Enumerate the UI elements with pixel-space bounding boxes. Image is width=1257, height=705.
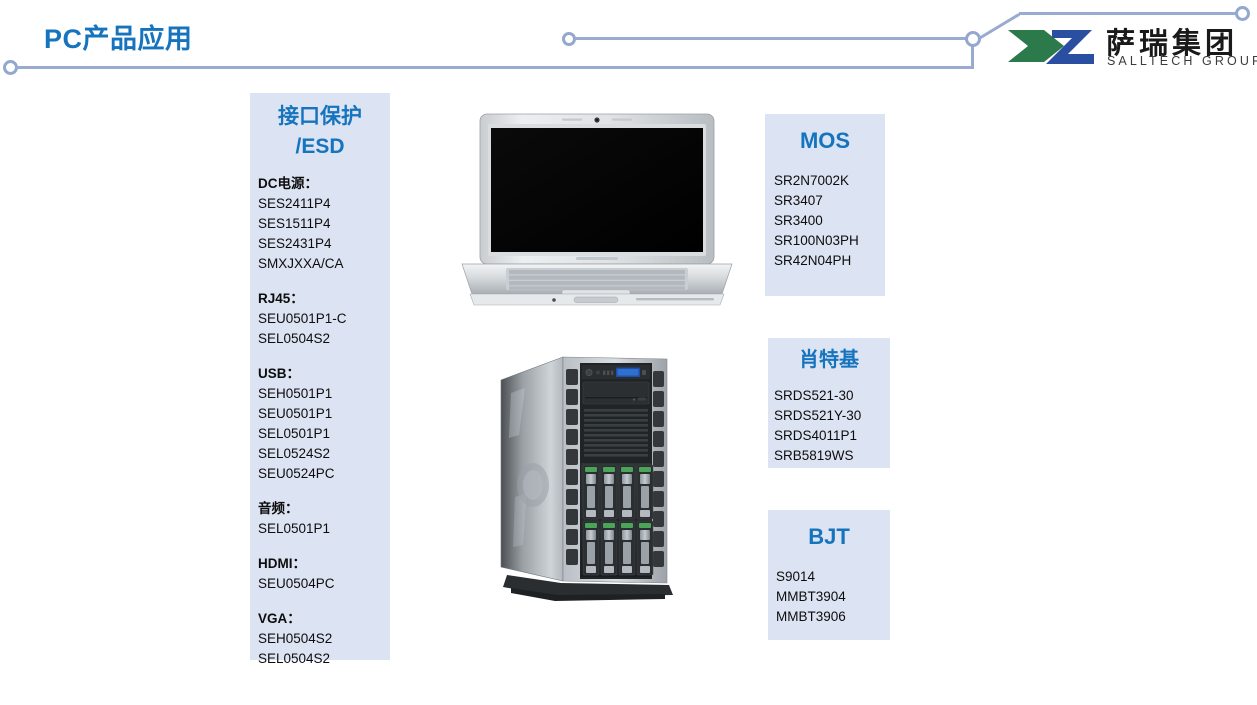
part-number: SR3407 <box>774 191 885 211</box>
part-number: S9014 <box>776 567 890 587</box>
part-number: MMBT3906 <box>776 607 890 627</box>
part-group-usb: USB： SEH0501P1 SEU0501P1 SEL0501P1 SEL05… <box>258 364 390 484</box>
deco-line-lower <box>16 66 974 69</box>
info-box-esd: 接口保护 /ESD DC电源： SES2411P4 SES1511P4 SES2… <box>250 93 390 660</box>
part-number: MMBT3904 <box>776 587 890 607</box>
info-box-schottky-title: 肖特基 <box>768 338 890 375</box>
part-number: SRB5819WS <box>774 446 890 466</box>
part-group-label: DC电源： <box>258 174 390 194</box>
part-group-label: 音频： <box>258 499 390 519</box>
part-group-rj45: RJ45： SEU0501P1-C SEL0504S2 <box>258 289 390 349</box>
page-title: PC产品应用 <box>44 17 193 56</box>
info-box-schottky: 肖特基 SRDS521-30 SRDS521Y-30 SRDS4011P1 SR… <box>768 338 890 468</box>
part-number: SEU0524PC <box>258 464 390 484</box>
part-number: SR3400 <box>774 211 885 231</box>
server-control-panel <box>582 365 650 379</box>
info-box-esd-title-line2: /ESD <box>250 132 390 162</box>
part-number: SEL0524S2 <box>258 444 390 464</box>
info-box-esd-title: 接口保护 /ESD <box>250 93 390 162</box>
part-number: SEL0504S2 <box>258 329 390 349</box>
info-box-schottky-body: SRDS521-30 SRDS521Y-30 SRDS4011P1 SRB581… <box>768 375 890 466</box>
info-box-mos-title: MOS <box>765 114 885 155</box>
part-group-hdmi: HDMI： SEU0504PC <box>258 554 390 594</box>
part-group-label: VGA： <box>258 609 390 629</box>
part-group-dc-power: DC电源： SES2411P4 SES1511P4 SES2431P4 SMXJ… <box>258 174 390 274</box>
part-number: SEH0501P1 <box>258 384 390 404</box>
spacer <box>258 484 390 499</box>
spacer <box>258 274 390 289</box>
spacer <box>258 594 390 609</box>
part-number: SR2N7002K <box>774 171 885 191</box>
part-number: SES2411P4 <box>258 194 390 214</box>
part-number: SRDS521Y-30 <box>774 406 890 426</box>
part-group-label: RJ45： <box>258 289 390 309</box>
deco-line-middle <box>575 37 974 40</box>
info-box-mos: MOS SR2N7002K SR3407 SR3400 SR100N03PH S… <box>765 114 885 296</box>
part-number: SR42N04PH <box>774 251 885 271</box>
part-number: SES1511P4 <box>258 214 390 234</box>
part-number: SEL0504S2 <box>258 649 390 669</box>
spacer <box>258 349 390 364</box>
info-box-esd-title-line1: 接口保护 <box>250 102 390 132</box>
part-number: SRDS521-30 <box>774 386 890 406</box>
info-box-mos-body: SR2N7002K SR3407 SR3400 SR100N03PH SR42N… <box>765 155 885 271</box>
part-number: SEH0504S2 <box>258 629 390 649</box>
deco-line-upper <box>1019 12 1238 15</box>
info-box-bjt-body: S9014 MMBT3904 MMBT3906 <box>768 551 890 627</box>
part-group-label: USB： <box>258 364 390 384</box>
salltech-logo-mark <box>1008 24 1100 70</box>
deco-circle-middle <box>562 32 576 46</box>
part-number: SEU0504PC <box>258 574 390 594</box>
part-number: SEL0501P1 <box>258 424 390 444</box>
info-box-bjt-title: BJT <box>768 510 890 551</box>
part-number: SEU0501P1-C <box>258 309 390 329</box>
deco-circle-right <box>1235 6 1250 21</box>
part-number: SEL0501P1 <box>258 519 390 539</box>
info-box-bjt: BJT S9014 MMBT3904 MMBT3906 <box>768 510 890 640</box>
tower-server-photo <box>497 345 697 610</box>
spacer <box>258 539 390 554</box>
laptop-photo <box>458 112 736 308</box>
logo-company-name-en: SALLTECH GROUP <box>1107 54 1257 68</box>
part-number: SMXJXXA/CA <box>258 254 390 274</box>
part-number: SRDS4011P1 <box>774 426 890 446</box>
part-group-label: HDMI： <box>258 554 390 574</box>
part-number: SES2431P4 <box>258 234 390 254</box>
brand-logo: 萨瑞集团 SALLTECH GROUP <box>1008 22 1236 72</box>
slide-canvas: PC产品应用 萨瑞集团 SALLTECH GROUP 接口保护 /ESD DC电… <box>0 0 1257 705</box>
part-group-vga: VGA： SEH0504S2 SEL0504S2 <box>258 609 390 669</box>
info-box-esd-body: DC电源： SES2411P4 SES1511P4 SES2431P4 SMXJ… <box>250 162 390 669</box>
part-group-audio: 音频： SEL0501P1 <box>258 499 390 539</box>
part-number: SEU0501P1 <box>258 404 390 424</box>
part-number: SR100N03PH <box>774 231 885 251</box>
